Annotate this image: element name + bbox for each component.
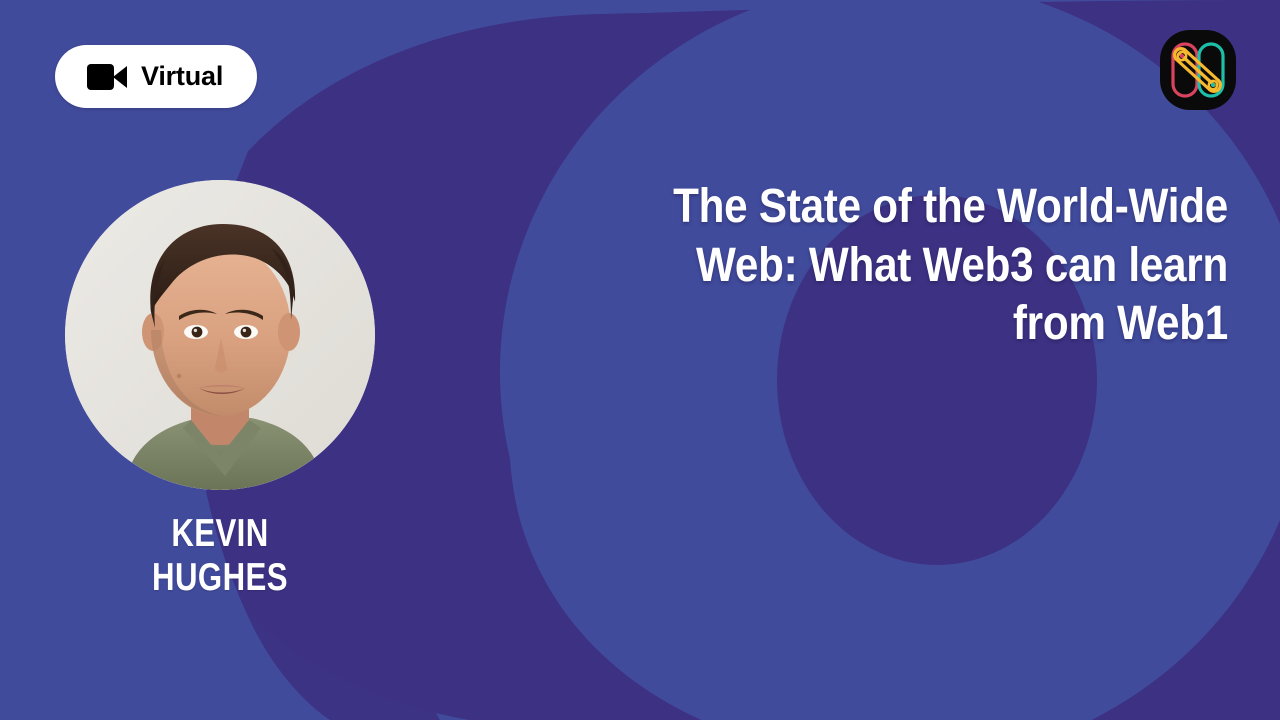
speaker-block: KEVIN HUGHES: [65, 180, 375, 601]
kevin-hughes-portrait: [65, 180, 375, 490]
video-camera-icon: [87, 64, 127, 90]
brand-logo-icon: [1156, 28, 1240, 112]
speaker-name: KEVIN HUGHES: [96, 512, 344, 601]
talk-title: The State of the World-Wide Web: What We…: [665, 178, 1228, 354]
virtual-badge: Virtual: [55, 45, 257, 108]
avatar: [65, 180, 375, 490]
virtual-badge-label: Virtual: [141, 63, 223, 90]
talk-card: Virtual: [0, 0, 1280, 720]
